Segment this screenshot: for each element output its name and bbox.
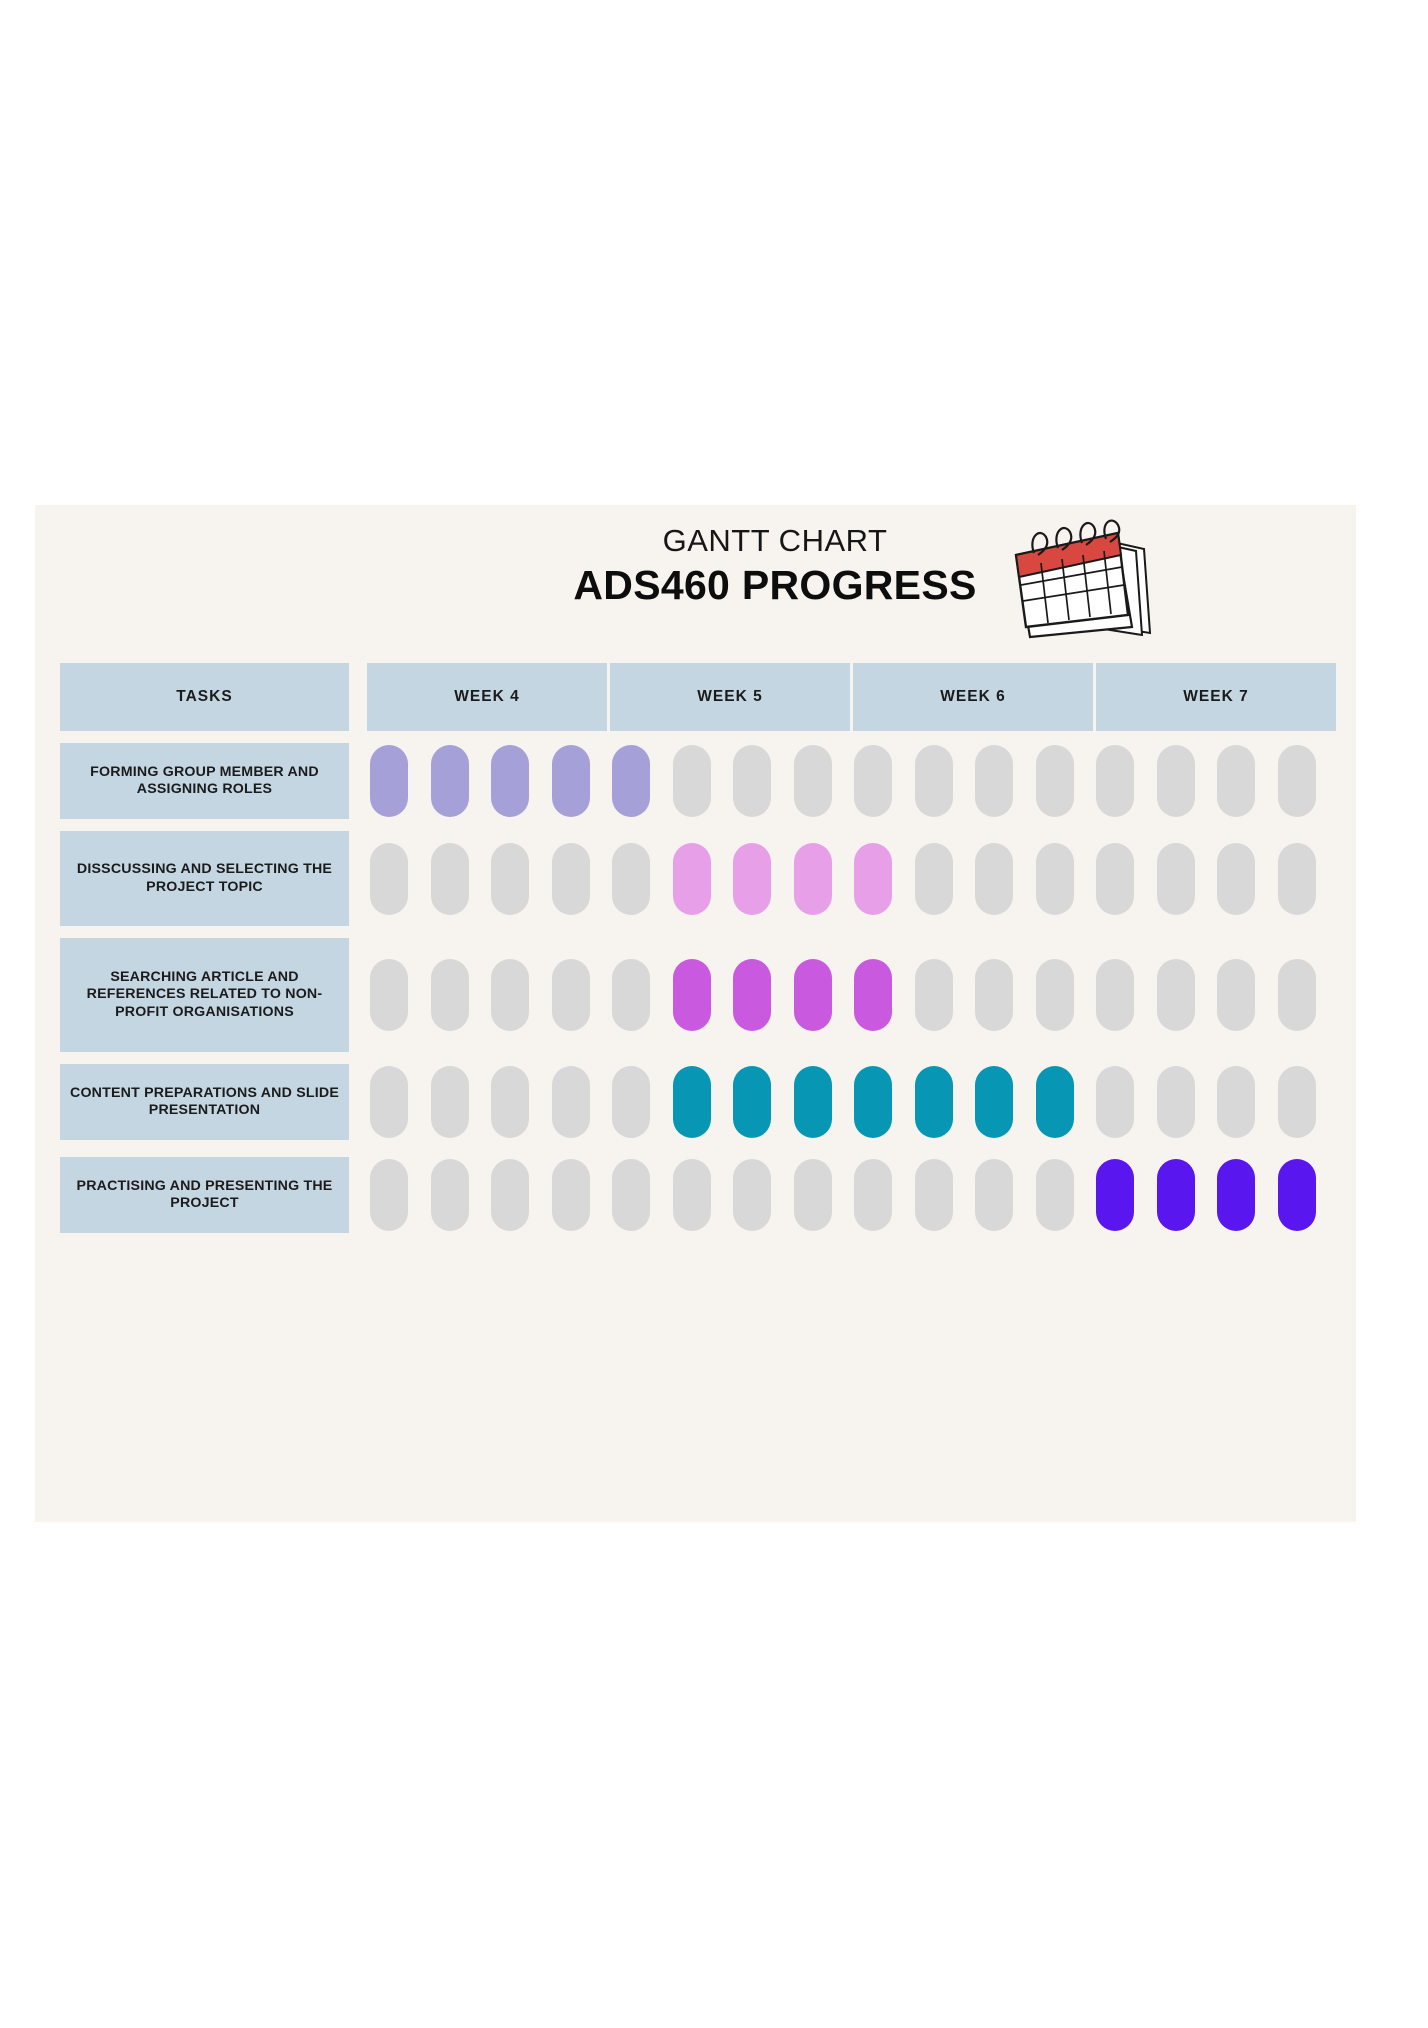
- gantt-bar-cell-empty[interactable]: [431, 1159, 469, 1231]
- row-cells-1: [367, 743, 1335, 819]
- gantt-chart-canvas: GANTT CHART ADS460 PROGRESS: [35, 505, 1356, 1522]
- task-label-2: DISSCUSSING AND SELECTING THE PROJECT TO…: [60, 831, 349, 926]
- gantt-bar-cell-empty[interactable]: [915, 745, 953, 817]
- gantt-bar-cell-empty[interactable]: [612, 843, 650, 915]
- gantt-bar-cell-empty[interactable]: [552, 1066, 590, 1138]
- gantt-bar-cell-filled[interactable]: [854, 843, 892, 915]
- table-row: FORMING GROUP MEMBER AND ASSIGNING ROLES: [60, 743, 1335, 819]
- gantt-bar-cell-empty[interactable]: [552, 959, 590, 1031]
- row-cells-4: [367, 1064, 1335, 1140]
- gantt-bar-cell-empty[interactable]: [370, 1066, 408, 1138]
- gantt-bar-cell-empty[interactable]: [1096, 959, 1134, 1031]
- gantt-bar-cell-empty[interactable]: [552, 1159, 590, 1231]
- gantt-bar-cell-empty[interactable]: [1157, 1066, 1195, 1138]
- gantt-bar-cell-filled[interactable]: [975, 1066, 1013, 1138]
- row-cells-5: [367, 1157, 1335, 1233]
- page-title: ADS460 PROGRESS: [555, 561, 995, 610]
- gantt-bar-cell-filled[interactable]: [733, 959, 771, 1031]
- gantt-bar-cell-empty[interactable]: [915, 1159, 953, 1231]
- gantt-bar-cell-filled[interactable]: [915, 1066, 953, 1138]
- gantt-bar-cell-empty[interactable]: [612, 1159, 650, 1231]
- gantt-bar-cell-empty[interactable]: [1217, 1066, 1255, 1138]
- gantt-bar-cell-empty[interactable]: [491, 1159, 529, 1231]
- gantt-bar-cell-filled[interactable]: [552, 745, 590, 817]
- gantt-bar-cell-empty[interactable]: [1278, 1066, 1316, 1138]
- gantt-bar-cell-empty[interactable]: [1096, 1066, 1134, 1138]
- gantt-bar-cell-filled[interactable]: [1217, 1159, 1255, 1231]
- gantt-bar-cell-empty[interactable]: [491, 959, 529, 1031]
- task-label-1: FORMING GROUP MEMBER AND ASSIGNING ROLES: [60, 743, 349, 819]
- gantt-bar-cell-filled[interactable]: [1157, 1159, 1195, 1231]
- gantt-bar-cell-empty[interactable]: [975, 959, 1013, 1031]
- table-row: CONTENT PREPARATIONS AND SLIDE PRESENTAT…: [60, 1064, 1335, 1140]
- gantt-bar-cell-empty[interactable]: [1096, 745, 1134, 817]
- gantt-bar-cell-empty[interactable]: [733, 1159, 771, 1231]
- row-cells-2: [367, 831, 1335, 926]
- gantt-bar-cell-filled[interactable]: [673, 1066, 711, 1138]
- gantt-bar-cell-filled[interactable]: [431, 745, 469, 817]
- week-header-3: WEEK 6: [853, 663, 1093, 731]
- gantt-bar-cell-empty[interactable]: [1278, 745, 1316, 817]
- gantt-bar-cell-filled[interactable]: [1096, 1159, 1134, 1231]
- gantt-bar-cell-empty[interactable]: [975, 843, 1013, 915]
- gantt-bar-cell-empty[interactable]: [1217, 843, 1255, 915]
- gantt-bar-cell-filled[interactable]: [794, 959, 832, 1031]
- gantt-bar-cell-empty[interactable]: [431, 843, 469, 915]
- gantt-bar-cell-filled[interactable]: [673, 843, 711, 915]
- gantt-bar-cell-empty[interactable]: [1278, 843, 1316, 915]
- gantt-bar-cell-empty[interactable]: [1036, 1159, 1074, 1231]
- task-label-4: CONTENT PREPARATIONS AND SLIDE PRESENTAT…: [60, 1064, 349, 1140]
- gantt-bar-cell-filled[interactable]: [733, 843, 771, 915]
- gantt-bar-cell-empty[interactable]: [1157, 959, 1195, 1031]
- gantt-bar-cell-empty[interactable]: [1278, 959, 1316, 1031]
- gantt-bar-cell-filled[interactable]: [854, 959, 892, 1031]
- row-cells-3: [367, 938, 1335, 1052]
- gantt-bar-cell-empty[interactable]: [1217, 745, 1255, 817]
- gantt-bar-cell-filled[interactable]: [794, 843, 832, 915]
- gantt-bar-cell-filled[interactable]: [854, 1066, 892, 1138]
- calendar-icon: [1000, 515, 1155, 650]
- gantt-bar-cell-filled[interactable]: [794, 1066, 832, 1138]
- gantt-bar-cell-empty[interactable]: [612, 1066, 650, 1138]
- table-row: PRACTISING AND PRESENTING THE PROJECT: [60, 1157, 1335, 1233]
- gantt-bar-cell-empty[interactable]: [794, 745, 832, 817]
- gantt-bar-cell-empty[interactable]: [915, 959, 953, 1031]
- gantt-bar-cell-empty[interactable]: [915, 843, 953, 915]
- gantt-bar-cell-filled[interactable]: [491, 745, 529, 817]
- table-row: DISSCUSSING AND SELECTING THE PROJECT TO…: [60, 831, 1335, 926]
- gantt-bar-cell-empty[interactable]: [673, 1159, 711, 1231]
- gantt-bar-cell-empty[interactable]: [975, 1159, 1013, 1231]
- week-header-4: WEEK 7: [1096, 663, 1336, 731]
- gantt-bar-cell-empty[interactable]: [733, 745, 771, 817]
- table-row: SEARCHING ARTICLE AND REFERENCES RELATED…: [60, 938, 1335, 1052]
- gantt-bar-cell-empty[interactable]: [370, 843, 408, 915]
- title-text-group: GANTT CHART ADS460 PROGRESS: [555, 523, 995, 610]
- gantt-bar-cell-empty[interactable]: [491, 843, 529, 915]
- task-label-3: SEARCHING ARTICLE AND REFERENCES RELATED…: [60, 938, 349, 1052]
- gantt-bar-cell-filled[interactable]: [733, 1066, 771, 1138]
- task-label-5: PRACTISING AND PRESENTING THE PROJECT: [60, 1157, 349, 1233]
- gantt-bar-cell-filled[interactable]: [1278, 1159, 1316, 1231]
- gantt-bar-cell-empty[interactable]: [854, 745, 892, 817]
- gantt-bar-cell-filled[interactable]: [1036, 1066, 1074, 1138]
- gantt-bar-cell-filled[interactable]: [612, 745, 650, 817]
- gantt-bar-cell-empty[interactable]: [1036, 745, 1074, 817]
- gantt-bar-cell-empty[interactable]: [552, 843, 590, 915]
- table-header-row: TASKS WEEK 4 WEEK 5 WEEK 6 WEEK 7: [60, 663, 1335, 731]
- gantt-bar-cell-empty[interactable]: [370, 1159, 408, 1231]
- gantt-bar-cell-filled[interactable]: [370, 745, 408, 817]
- week-header-2: WEEK 5: [610, 663, 850, 731]
- gantt-bar-cell-empty[interactable]: [431, 959, 469, 1031]
- gantt-bar-cell-empty[interactable]: [975, 745, 1013, 817]
- gantt-bar-cell-empty[interactable]: [491, 1066, 529, 1138]
- chart-subtitle: GANTT CHART: [555, 523, 995, 559]
- gantt-bar-cell-empty[interactable]: [794, 1159, 832, 1231]
- gantt-bar-cell-empty[interactable]: [1157, 843, 1195, 915]
- gantt-bar-cell-empty[interactable]: [431, 1066, 469, 1138]
- gantt-bar-cell-empty[interactable]: [673, 745, 711, 817]
- gantt-bar-cell-empty[interactable]: [1036, 843, 1074, 915]
- gantt-bar-cell-filled[interactable]: [673, 959, 711, 1031]
- gantt-bar-cell-empty[interactable]: [1157, 745, 1195, 817]
- gantt-bar-cell-empty[interactable]: [370, 959, 408, 1031]
- week-header-1: WEEK 4: [367, 663, 607, 731]
- tasks-column-header: TASKS: [60, 663, 349, 731]
- gantt-bar-cell-empty[interactable]: [1096, 843, 1134, 915]
- gantt-bar-cell-empty[interactable]: [854, 1159, 892, 1231]
- gantt-bar-cell-empty[interactable]: [1036, 959, 1074, 1031]
- gantt-bar-cell-empty[interactable]: [612, 959, 650, 1031]
- chart-title-block: GANTT CHART ADS460 PROGRESS: [555, 523, 1255, 643]
- gantt-bar-cell-empty[interactable]: [1217, 959, 1255, 1031]
